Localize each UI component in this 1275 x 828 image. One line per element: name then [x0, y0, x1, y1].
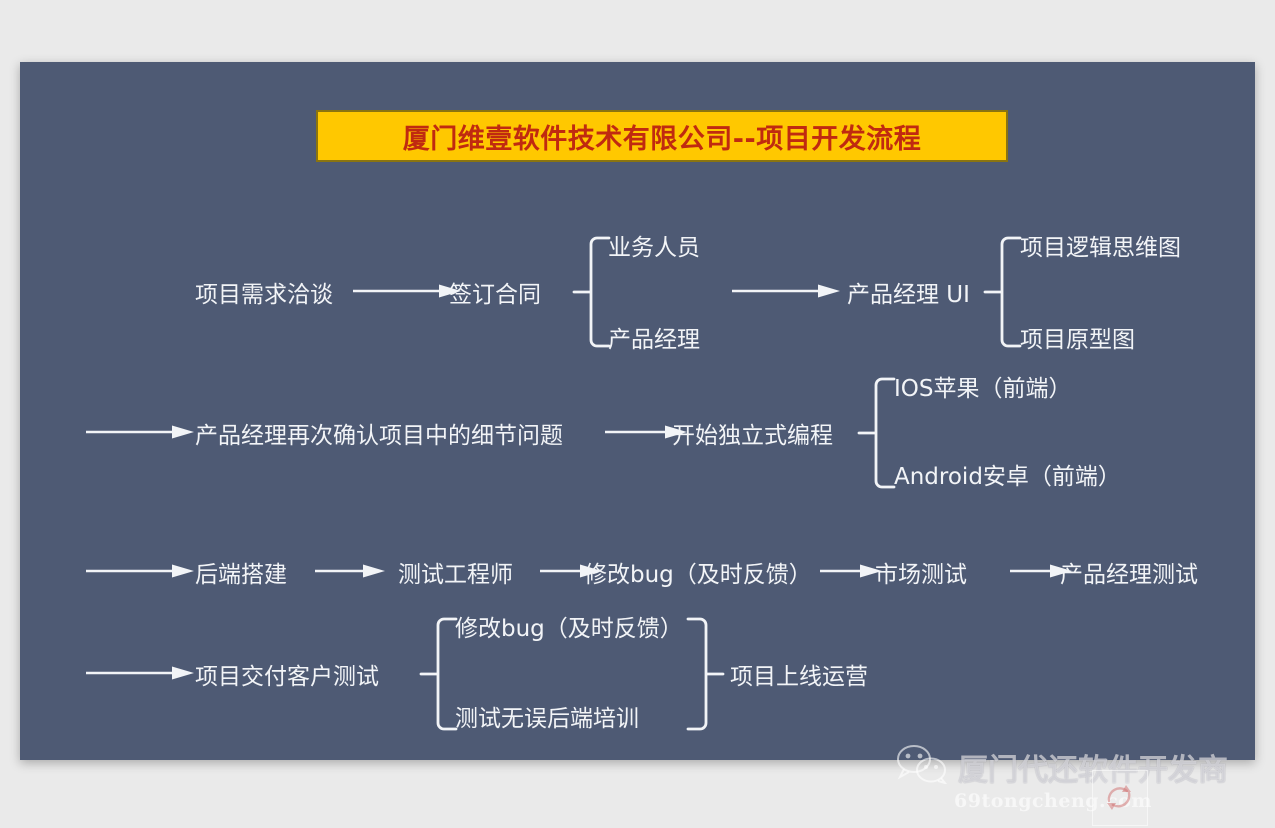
node-row2-independent-coding: 开始独立式编程 — [672, 425, 833, 448]
node-row1-requirement-talk: 项目需求洽谈 — [195, 284, 333, 307]
node-row1-sign-contract: 签订合同 — [449, 284, 541, 307]
node-row2-ios-frontend: IOS苹果（前端） — [894, 378, 1072, 401]
node-row4-backend-training: 测试无误后端培训 — [455, 708, 639, 731]
node-row2-pm-reconfirm: 产品经理再次确认项目中的细节问题 — [195, 425, 563, 448]
recycle-badge-icon — [1092, 770, 1148, 826]
arrow-row4-in — [86, 666, 194, 680]
arrow-row3-1 — [315, 564, 385, 578]
arrow-row3-3 — [820, 564, 882, 578]
node-row1-logic-mindmap: 项目逻辑思维图 — [1020, 237, 1181, 260]
slide-canvas: 厦门维壹软件技术有限公司--项目开发流程 项目需求洽谈 签订合同 业务人员 产品… — [20, 62, 1255, 760]
node-row1-pm-ui: 产品经理 UI — [847, 284, 970, 307]
node-row3-fix-bug: 修改bug（及时反馈） — [584, 564, 812, 587]
brace-row4-close — [680, 613, 726, 735]
node-row2-android-frontend: Android安卓（前端） — [894, 466, 1121, 489]
node-row1-prototype: 项目原型图 — [1020, 329, 1135, 352]
node-row1-product-manager: 产品经理 — [608, 329, 700, 352]
node-row4-go-live: 项目上线运营 — [730, 666, 868, 689]
node-row1-business-staff: 业务人员 — [608, 237, 700, 260]
node-row3-market-test: 市场测试 — [875, 564, 967, 587]
slide-title-banner: 厦门维壹软件技术有限公司--项目开发流程 — [316, 110, 1008, 162]
arrow-row2-in — [86, 425, 194, 439]
node-row3-pm-test: 产品经理测试 — [1060, 564, 1198, 587]
arrow-row3-in — [86, 564, 194, 578]
arrow-row1-2 — [732, 284, 840, 298]
watermark-url: 69tongcheng.com — [954, 790, 1152, 812]
node-row4-fix-bug: 修改bug（及时反馈） — [455, 618, 683, 641]
slide-title-text: 厦门维壹软件技术有限公司--项目开发流程 — [403, 117, 921, 156]
node-row3-backend-build: 后端搭建 — [195, 564, 287, 587]
arrow-row1-1 — [353, 284, 461, 298]
node-row4-deliver-to-client: 项目交付客户测试 — [195, 666, 379, 689]
node-row3-test-engineer: 测试工程师 — [398, 564, 513, 587]
